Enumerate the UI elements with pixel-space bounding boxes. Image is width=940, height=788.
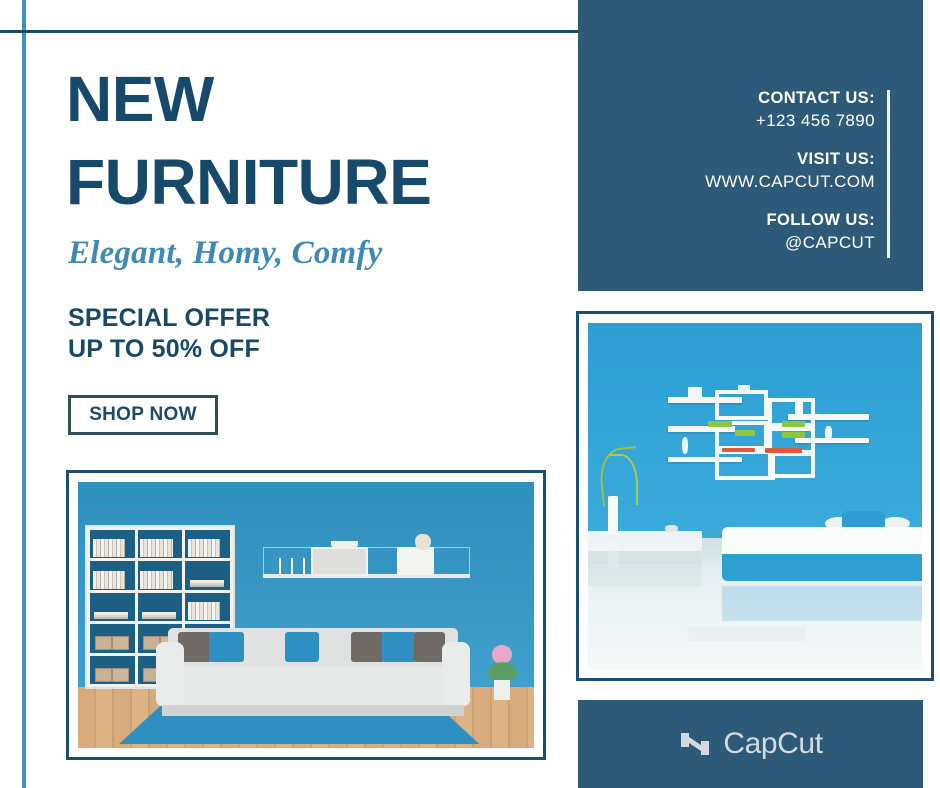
shelf-cell xyxy=(185,530,230,559)
shelf-cell xyxy=(90,593,135,622)
subtitle: Elegant, Homy, Comfy xyxy=(68,235,382,272)
cushion-blue xyxy=(209,632,244,662)
shop-now-label: SHOP NOW xyxy=(89,404,197,426)
low-bench xyxy=(588,531,702,552)
shelf-books-green xyxy=(735,430,755,436)
shelf-books-red xyxy=(765,448,802,452)
headline-line-2: FURNITURE xyxy=(66,141,566,224)
shelf-cell xyxy=(185,593,230,622)
shelf-cell xyxy=(138,593,183,622)
decor-candles xyxy=(274,558,306,574)
shelf-books-red xyxy=(722,448,755,452)
daybed xyxy=(722,510,922,586)
wall-shelf-box xyxy=(397,547,433,575)
shelf-books-green xyxy=(782,432,805,438)
shelf-cell xyxy=(138,561,183,590)
floor-reflection xyxy=(688,627,805,641)
shelf-decor xyxy=(795,401,803,415)
wall-shelf-box xyxy=(715,390,768,419)
contact-value-website[interactable]: WWW.CAPCUT.COM xyxy=(705,170,875,193)
side-photo-frame xyxy=(576,311,934,681)
cushion-blue xyxy=(382,632,417,662)
contact-value-social[interactable]: @CAPCUT xyxy=(705,231,875,254)
sofa-base xyxy=(162,705,464,716)
bed-base xyxy=(722,554,922,581)
main-photo-frame xyxy=(66,470,546,760)
offer-line-1: SPECIAL OFFER xyxy=(68,303,270,334)
shelf-decor xyxy=(738,385,750,392)
contact-panel: CONTACT US: +123 456 7890 VISIT US: WWW.… xyxy=(578,0,923,291)
brand-panel: CapCut xyxy=(578,700,923,788)
contact-value-phone[interactable]: +123 456 7890 xyxy=(705,109,875,132)
brand-name: CapCut xyxy=(723,727,822,761)
sofa-arm-right xyxy=(442,642,470,705)
floor-reflection xyxy=(608,541,618,569)
sofa-seat xyxy=(156,667,471,706)
shelf-cell xyxy=(138,530,183,559)
poster-canvas: CONTACT US: +123 456 7890 VISIT US: WWW.… xyxy=(0,0,940,788)
offer-block: SPECIAL OFFER UP TO 50% OFF xyxy=(68,303,270,365)
shop-now-button[interactable]: SHOP NOW xyxy=(68,395,218,435)
offer-line-2: UP TO 50% OFF xyxy=(68,334,270,365)
contact-label-website: VISIT US: xyxy=(705,149,875,170)
shelf-cell xyxy=(90,624,135,653)
sofa-arm-left xyxy=(156,642,184,705)
shelf-cell xyxy=(90,530,135,559)
shelf-vase xyxy=(825,426,832,440)
contact-label-phone: CONTACT US: xyxy=(705,88,875,109)
bedroom-photo xyxy=(588,323,922,669)
cushion-blue xyxy=(285,632,320,662)
cushion-grey xyxy=(414,632,445,662)
shelf-decor xyxy=(688,387,701,397)
cushion-grey xyxy=(351,632,386,662)
contact-list: CONTACT US: +123 456 7890 VISIT US: WWW.… xyxy=(705,88,875,254)
sofa xyxy=(156,628,471,716)
bench-decor xyxy=(665,525,678,532)
shelf-cell xyxy=(185,561,230,590)
shelf-books-green xyxy=(708,421,731,427)
contact-divider-line xyxy=(887,90,890,258)
headline-line-1: NEW xyxy=(66,58,566,141)
capcut-logo-icon xyxy=(678,731,712,757)
living-room-photo xyxy=(78,482,534,748)
floor-reflection xyxy=(588,562,702,586)
potted-orchid xyxy=(484,642,520,701)
wall-shelf-box xyxy=(768,450,815,478)
left-vertical-rule xyxy=(22,0,26,788)
page-title: NEW FURNITURE xyxy=(66,58,566,224)
shelf-cell xyxy=(90,561,135,590)
floor-vase xyxy=(608,496,618,534)
wall-shelf-box xyxy=(715,450,775,479)
wall-shelf-cube xyxy=(311,547,368,576)
contact-label-social: FOLLOW US: xyxy=(705,210,875,231)
shelf-lamp xyxy=(682,437,689,454)
shelf-cell xyxy=(90,656,135,685)
floor-reflection xyxy=(722,586,922,621)
shelf-books-green xyxy=(782,421,805,427)
